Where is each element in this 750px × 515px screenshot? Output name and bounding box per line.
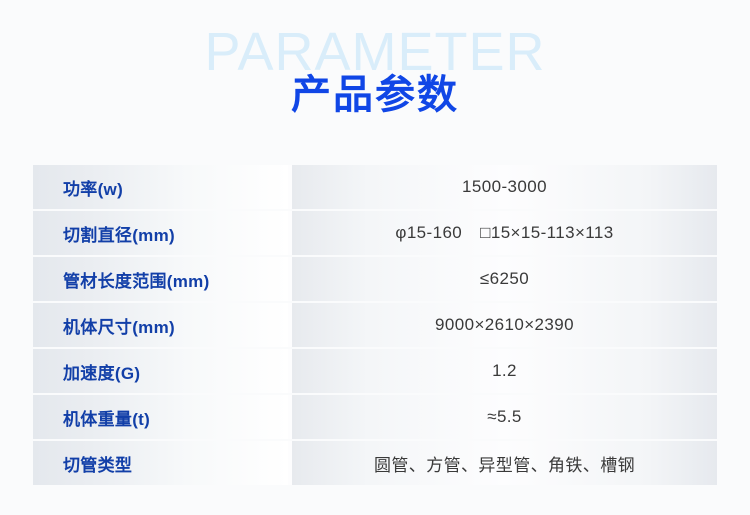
spec-label: 机体重量(t): [33, 395, 288, 439]
spec-value: φ15-160 □15×15-113×113: [292, 211, 717, 255]
spec-value: 圆管、方管、异型管、角铁、槽钢: [292, 441, 717, 485]
table-row: 管材长度范围(mm) ≤6250: [33, 257, 717, 301]
page-header: PARAMETER 产品参数: [0, 0, 750, 150]
spec-value: 9000×2610×2390: [292, 303, 717, 347]
page-title: 产品参数: [0, 72, 750, 118]
spec-value-round: φ15-160: [395, 223, 480, 243]
table-row: 切管类型 圆管、方管、异型管、角铁、槽钢: [33, 441, 717, 485]
spec-label: 切管类型: [33, 441, 288, 485]
spec-value-square: □15×15-113×113: [480, 223, 613, 243]
spec-label: 切割直径(mm): [33, 211, 288, 255]
spec-label: 管材长度范围(mm): [33, 257, 288, 301]
spec-label: 机体尺寸(mm): [33, 303, 288, 347]
table-row: 切割直径(mm) φ15-160 □15×15-113×113: [33, 211, 717, 255]
specification-table: 功率(w) 1500-3000 切割直径(mm) φ15-160 □15×15-…: [33, 165, 717, 485]
spec-value: 1.2: [292, 349, 717, 393]
spec-label: 加速度(G): [33, 349, 288, 393]
table-row: 机体重量(t) ≈5.5: [33, 395, 717, 439]
spec-label: 功率(w): [33, 165, 288, 209]
table-row: 机体尺寸(mm) 9000×2610×2390: [33, 303, 717, 347]
spec-value: ≈5.5: [292, 395, 717, 439]
spec-value: ≤6250: [292, 257, 717, 301]
spec-value: 1500-3000: [292, 165, 717, 209]
table-row: 加速度(G) 1.2: [33, 349, 717, 393]
table-row: 功率(w) 1500-3000: [33, 165, 717, 209]
